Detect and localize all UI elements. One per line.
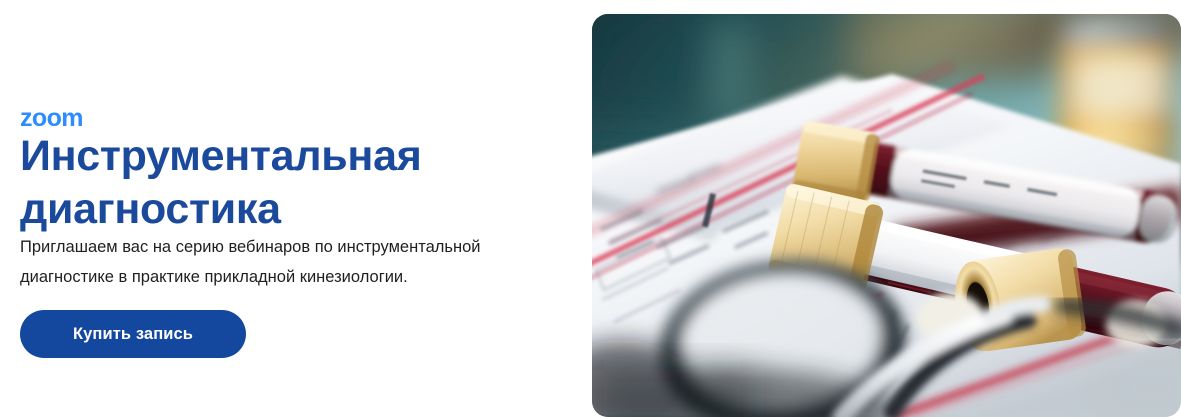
buy-recording-button[interactable]: Купить запись [20,310,246,358]
hero-lead-text: Приглашаем вас на серию вебинаров по инс… [20,232,565,292]
hero-banner: zoom Инструментальная диагностика Пригла… [0,0,1181,417]
hero-text-column: zoom Инструментальная диагностика Пригла… [20,0,560,417]
medical-lab-illustration [592,14,1181,417]
page-title: Инструментальная диагностика [20,130,560,236]
medical-lab-photo [592,14,1181,417]
zoom-logo: zoom [20,106,83,131]
